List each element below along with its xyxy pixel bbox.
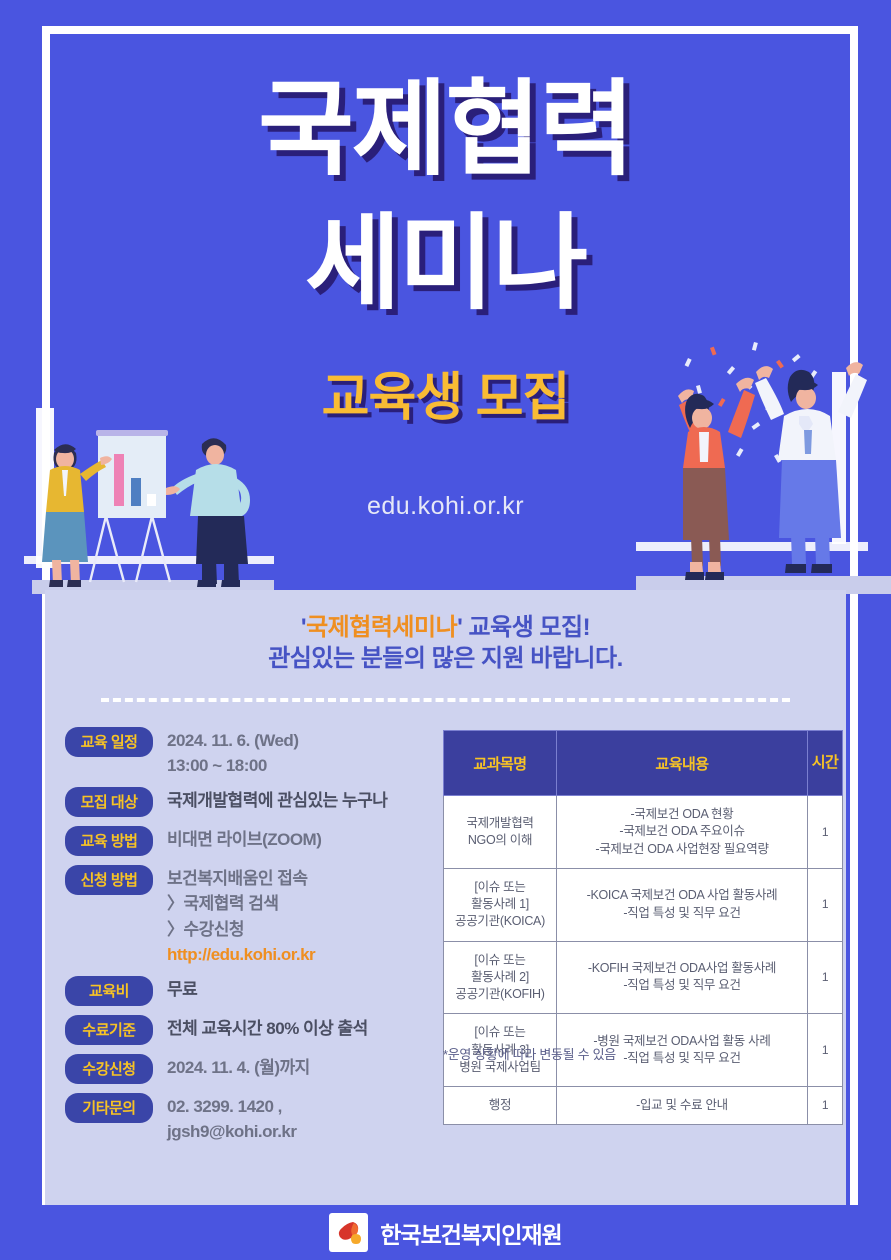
info-value-fee: 무료: [167, 976, 450, 1002]
info-row-deadline: 수강신청 2024. 11. 4. (월)까지: [65, 1054, 450, 1084]
cell-hours: 1: [808, 868, 843, 941]
info-value-schedule: 2024. 11. 6. (Wed) 13:00 ~ 18:00: [167, 727, 450, 778]
organization-name: 한국보건복지인재원: [380, 1216, 561, 1250]
info-label-schedule: 교육 일정: [65, 727, 153, 757]
cell-subject: 행정: [444, 1087, 557, 1125]
cell-hours: 1: [808, 1014, 843, 1087]
curriculum-table-wrapper: 교과목명 교육내용 시간 국제개발협력 NGO의 이해 -국제보건 ODA 현황…: [443, 730, 833, 1125]
info-label-fee: 교육비: [65, 976, 153, 1006]
info-label-target: 모집 대상: [65, 787, 153, 817]
info-row-schedule: 교육 일정 2024. 11. 6. (Wed) 13:00 ~ 18:00: [65, 727, 450, 778]
presentation-illustration: [24, 408, 274, 594]
application-step-2: 〉국제협력 검색: [167, 891, 450, 916]
info-value-application: 보건복지배움인 접속 〉국제협력 검색 〉수강신청 http://edu.koh…: [167, 865, 450, 967]
poster-root: 국제협력 세미나 교육생 모집 edu.kohi.or.kr: [0, 0, 891, 1260]
cell-subject: [이슈 또는 활동사례 2] 공공기관(KOFIH): [444, 941, 557, 1014]
cell-hours: 1: [808, 1087, 843, 1125]
curriculum-table: 교과목명 교육내용 시간 국제개발협력 NGO의 이해 -국제보건 ODA 현황…: [443, 730, 843, 1125]
cell-hours: 1: [808, 941, 843, 1014]
headline-accent-text: 국제협력세미나: [306, 614, 457, 641]
table-header-content: 교육내용: [557, 731, 808, 796]
table-row: [이슈 또는 활동사례 1] 공공기관(KOICA) -KOICA 국제보건 O…: [444, 868, 843, 941]
table-footnote: *운영 상황에 따라 변동될 수 있음: [443, 1044, 616, 1063]
info-row-application: 신청 방법 보건복지배움인 접속 〉국제협력 검색 〉수강신청 http://e…: [65, 865, 450, 967]
hero-section: 국제협력 세미나 교육생 모집 edu.kohi.or.kr: [0, 0, 891, 592]
organization-logo: [329, 1213, 368, 1252]
info-label-application: 신청 방법: [65, 865, 153, 895]
info-value-method: 비대면 라이브(ZOOM): [167, 826, 450, 852]
table-header-hours: 시간: [808, 731, 843, 796]
cell-content: -국제보건 ODA 현황 -국제보건 ODA 주요이슈 -국제보건 ODA 사업…: [557, 796, 808, 869]
application-step-1: 보건복지배움인 접속: [167, 866, 450, 891]
info-label-method: 교육 방법: [65, 826, 153, 856]
table-header-row: 교과목명 교육내용 시간: [444, 731, 843, 796]
poster-title-line-1: 국제협력: [0, 78, 891, 182]
cell-content: -KOICA 국제보건 ODA 사업 활동사례 -직업 특성 및 직무 요건: [557, 868, 808, 941]
info-label-deadline: 수강신청: [65, 1054, 153, 1084]
table-row: 국제개발협력 NGO의 이해 -국제보건 ODA 현황 -국제보건 ODA 주요…: [444, 796, 843, 869]
info-label-completion: 수료기준: [65, 1015, 153, 1045]
poster-title-line-2: 세미나: [0, 212, 891, 316]
info-row-contact: 기타문의 02. 3299. 1420 , jgsh9@kohi.or.kr: [65, 1093, 450, 1144]
cell-content: -입교 및 수료 안내: [557, 1087, 808, 1125]
info-row-target: 모집 대상 국제개발협력에 관심있는 누구나: [65, 787, 450, 817]
info-label-contact: 기타문의: [65, 1093, 153, 1123]
table-row: 행정 -입교 및 수료 안내 1: [444, 1087, 843, 1125]
info-list: 교육 일정 2024. 11. 6. (Wed) 13:00 ~ 18:00 모…: [65, 727, 450, 1153]
cell-content: -KOFIH 국제보건 ODA사업 활동사례 -직업 특성 및 직무 요건: [557, 941, 808, 1014]
cell-subject: 국제개발협력 NGO의 이해: [444, 796, 557, 869]
table-header-subject: 교과목명: [444, 731, 557, 796]
table-row: [이슈 또는 활동사례 2] 공공기관(KOFIH) -KOFIH 국제보건 O…: [444, 941, 843, 1014]
info-value-deadline: 2024. 11. 4. (월)까지: [167, 1054, 450, 1080]
info-value-completion: 전체 교육시간 80% 이상 출석: [167, 1015, 450, 1041]
headline-rest-text: 교육생 모집!: [462, 614, 590, 641]
info-row-method: 교육 방법 비대면 라이브(ZOOM): [65, 826, 450, 856]
info-row-fee: 교육비 무료: [65, 976, 450, 1006]
headline-line-2: 관심있는 분들의 많은 지원 바랍니다.: [45, 644, 846, 675]
panel-headline: '국제협력세미나' 교육생 모집! 관심있는 분들의 많은 지원 바랍니다.: [45, 613, 846, 674]
info-value-contact: 02. 3299. 1420 , jgsh9@kohi.or.kr: [167, 1093, 450, 1144]
kohi-logo-icon: [334, 1218, 364, 1248]
cell-subject: [이슈 또는 활동사례 1] 공공기관(KOICA): [444, 868, 557, 941]
cell-hours: 1: [808, 796, 843, 869]
dotted-divider: [101, 698, 790, 702]
info-panel: '국제협력세미나' 교육생 모집! 관심있는 분들의 많은 지원 바랍니다. 교…: [45, 590, 846, 1205]
application-url-link[interactable]: http://edu.kohi.or.kr: [167, 942, 450, 967]
headline-line-1: '국제협력세미나' 교육생 모집!: [45, 613, 846, 644]
info-row-completion: 수료기준 전체 교육시간 80% 이상 출석: [65, 1015, 450, 1045]
celebration-illustration: [636, 336, 891, 594]
application-step-3: 〉수강신청: [167, 917, 450, 942]
info-value-target: 국제개발협력에 관심있는 누구나: [167, 787, 450, 813]
footer-bar: 한국보건복지인재원: [0, 1205, 891, 1260]
